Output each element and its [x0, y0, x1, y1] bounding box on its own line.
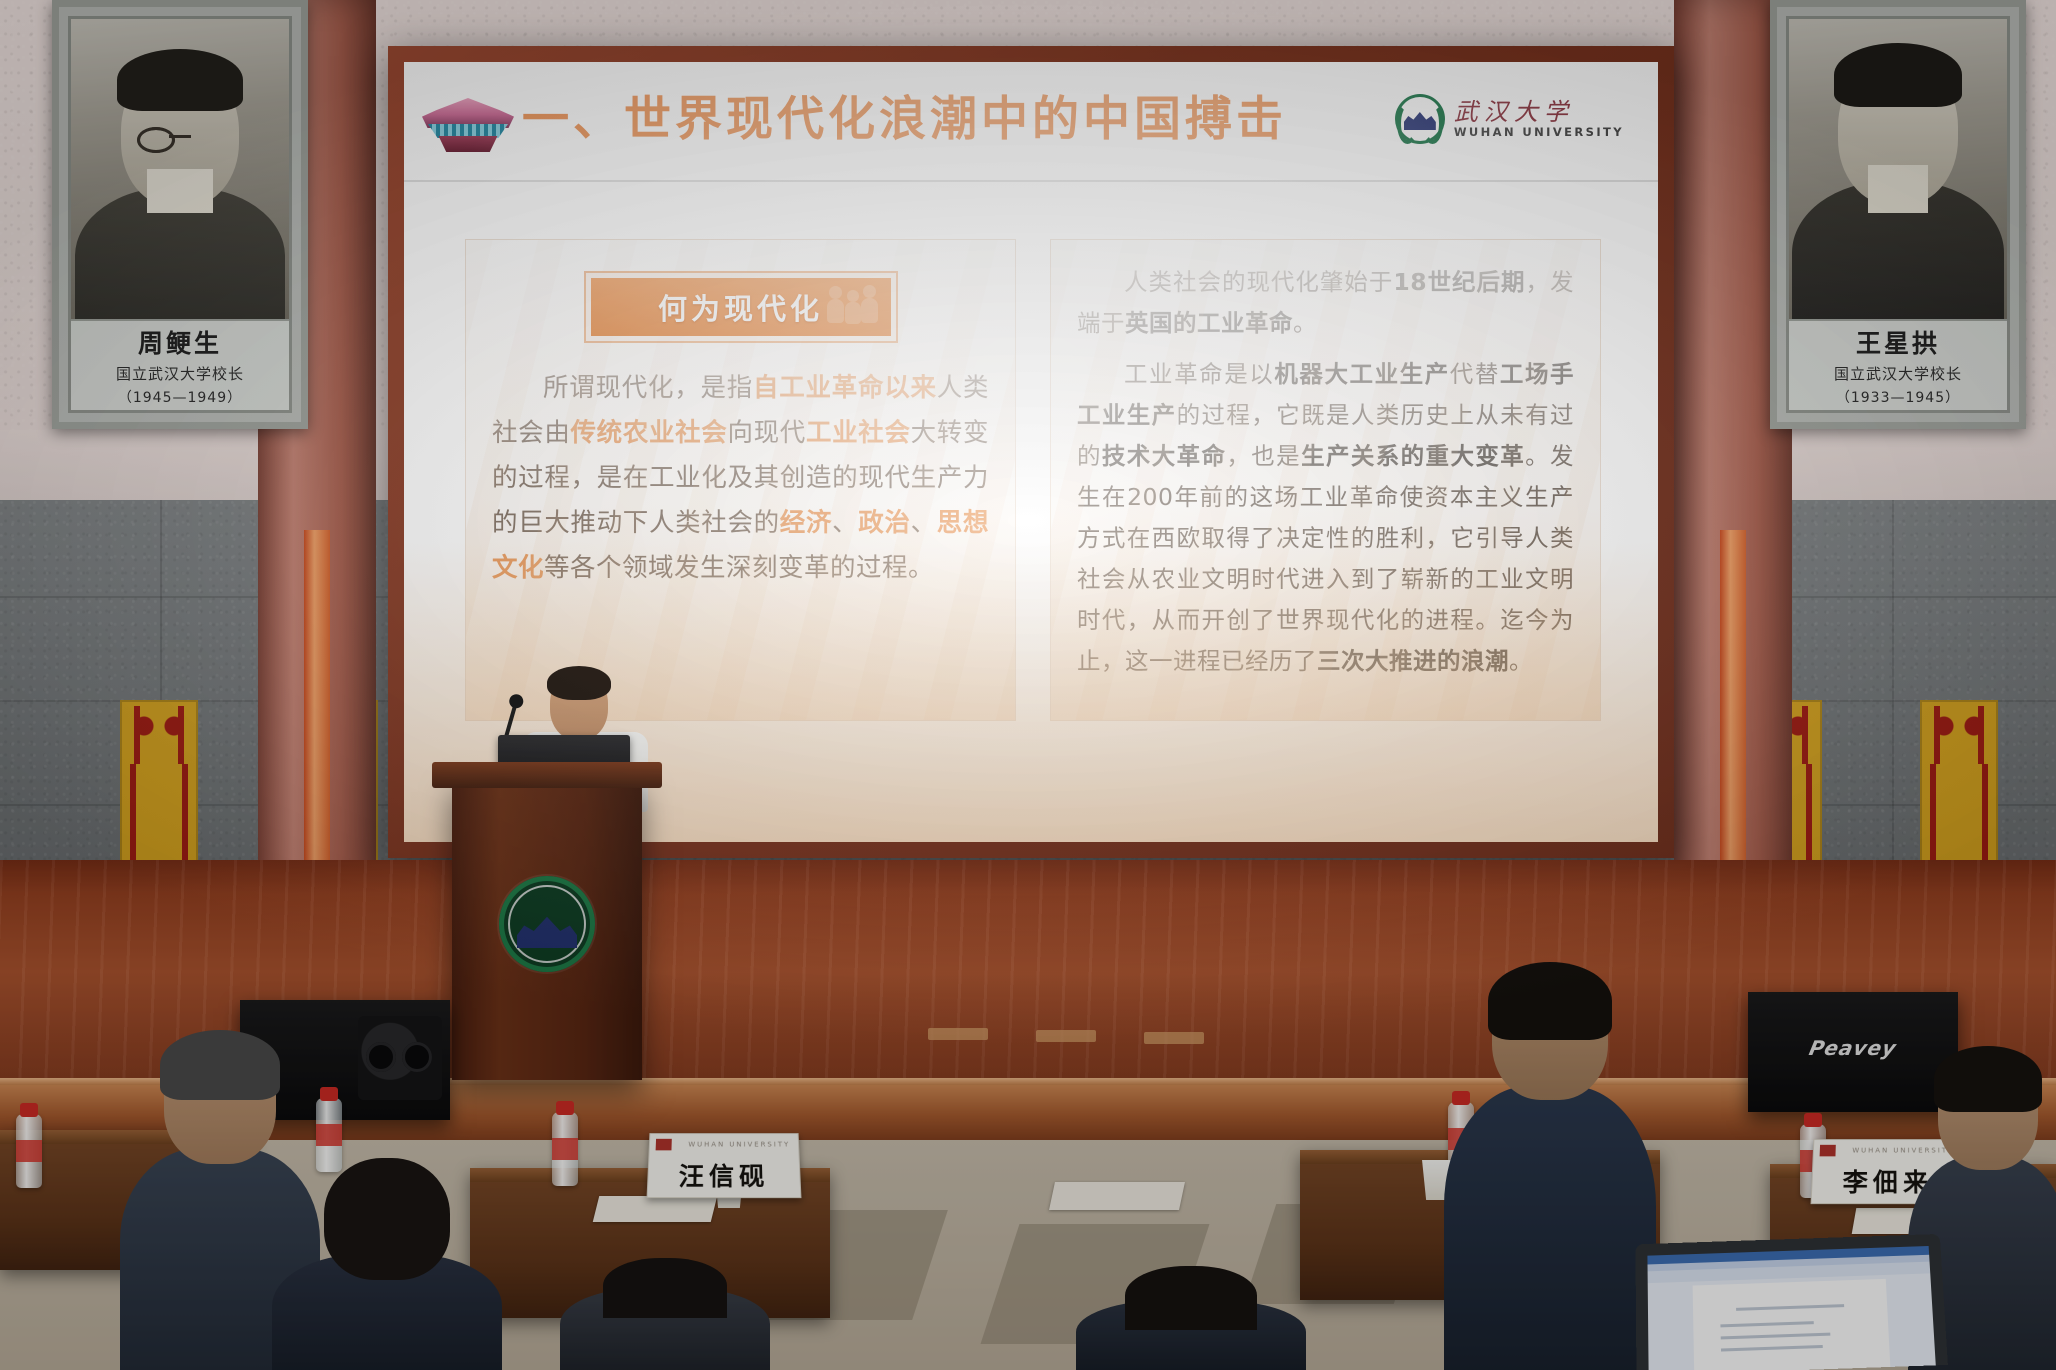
history-paragraph-2: 工业革命是以机器大工业生产代替工场手工业生产的过程，它既是人类历史上从未有过的技…	[1077, 354, 1574, 682]
banner-label: 何为现代化	[658, 286, 823, 328]
nameplate-left: WUHAN UNIVERSITY 汪信砚	[647, 1133, 802, 1198]
plaque-text-right: 王星拱 国立武汉大学校长 （1933—1945）	[1789, 319, 2007, 410]
stage-inlay	[928, 1028, 988, 1040]
people-group-icon	[825, 284, 881, 330]
plaque-text-left: 周鲠生 国立武汉大学校长 （1945—1949）	[71, 319, 289, 410]
portrait-name: 王星拱	[1856, 324, 1940, 360]
portrait-plaque-left: 周鲠生 国立武汉大学校长 （1945—1949）	[52, 0, 308, 429]
slide-title: 一、世界现代化浪潮中的中国搏击	[522, 88, 1287, 152]
audience-member	[560, 1258, 770, 1370]
document-sheet	[593, 1196, 717, 1222]
slide-header: 一、世界现代化浪潮中的中国搏击 武汉大学 WUHAN UNIVERSITY	[404, 62, 1658, 184]
lecture-hall-scene: 周鲠生 国立武汉大学校长 （1945—1949） 王星拱 国立武汉大学校长 （1…	[0, 0, 2056, 1370]
portrait-years: （1933—1945）	[1836, 387, 1960, 407]
audience-member	[1444, 968, 1656, 1370]
portrait-years: （1945—1949）	[118, 387, 242, 407]
history-paragraph-1: 人类社会的现代化肇始于18世纪后期，发端于英国的工业革命。	[1077, 262, 1574, 344]
logo-english-name: WUHAN UNIVERSITY	[1454, 126, 1624, 138]
portrait-plaque-right: 王星拱 国立武汉大学校长 （1933—1945）	[1770, 0, 2026, 429]
audience-member	[272, 1158, 502, 1370]
audience-laptop[interactable]	[1635, 1234, 1947, 1370]
water-bottle	[16, 1114, 42, 1188]
definition-paragraph: 所谓现代化，是指自工业革命以来人类社会由传统农业社会向现代工业社会大转变的过程，…	[492, 366, 989, 591]
laptop-screen	[1647, 1246, 1935, 1370]
nameplate-subtext: WUHAN UNIVERSITY	[688, 1141, 790, 1149]
portrait-role: 国立武汉大学校长	[116, 363, 244, 384]
wuhan-university-logo: 武汉大学 WUHAN UNIVERSITY	[1395, 94, 1624, 144]
section-banner: 何为现代化	[591, 278, 891, 336]
logo-chinese-name: 武汉大学	[1454, 100, 1624, 125]
wuhan-university-seal-icon	[499, 876, 595, 972]
header-divider	[404, 180, 1658, 182]
definition-card: 何为现代化 所谓现代化，是指自工业革命以来人类社会由传统农业社会向现代工业社会大…	[466, 240, 1015, 720]
history-card: 人类社会的现代化肇始于18世纪后期，发端于英国的工业革命。 工业革命是以机器大工…	[1051, 240, 1600, 720]
university-mark-icon	[1820, 1145, 1836, 1157]
water-bottle	[552, 1112, 578, 1186]
pagoda-icon	[422, 84, 514, 154]
stage-inlay	[1036, 1030, 1096, 1042]
university-mark-icon	[656, 1139, 672, 1151]
audience-member	[1076, 1266, 1306, 1370]
lectern	[452, 780, 642, 1080]
portrait-photo	[1789, 19, 2007, 319]
nameplate-name: 汪信砚	[678, 1157, 769, 1193]
slide-content: 何为现代化 所谓现代化，是指自工业革命以来人类社会由传统农业社会向现代工业社会大…	[466, 240, 1600, 720]
speaker-brand-label: Peavey	[1807, 1036, 1899, 1060]
portrait-role: 国立武汉大学校长	[1834, 363, 1962, 384]
stage-inlay	[1144, 1032, 1204, 1044]
document-sheet	[1049, 1182, 1185, 1210]
portrait-name: 周鲠生	[138, 324, 222, 360]
university-seal-icon	[1395, 94, 1445, 144]
portrait-photo	[71, 19, 289, 319]
